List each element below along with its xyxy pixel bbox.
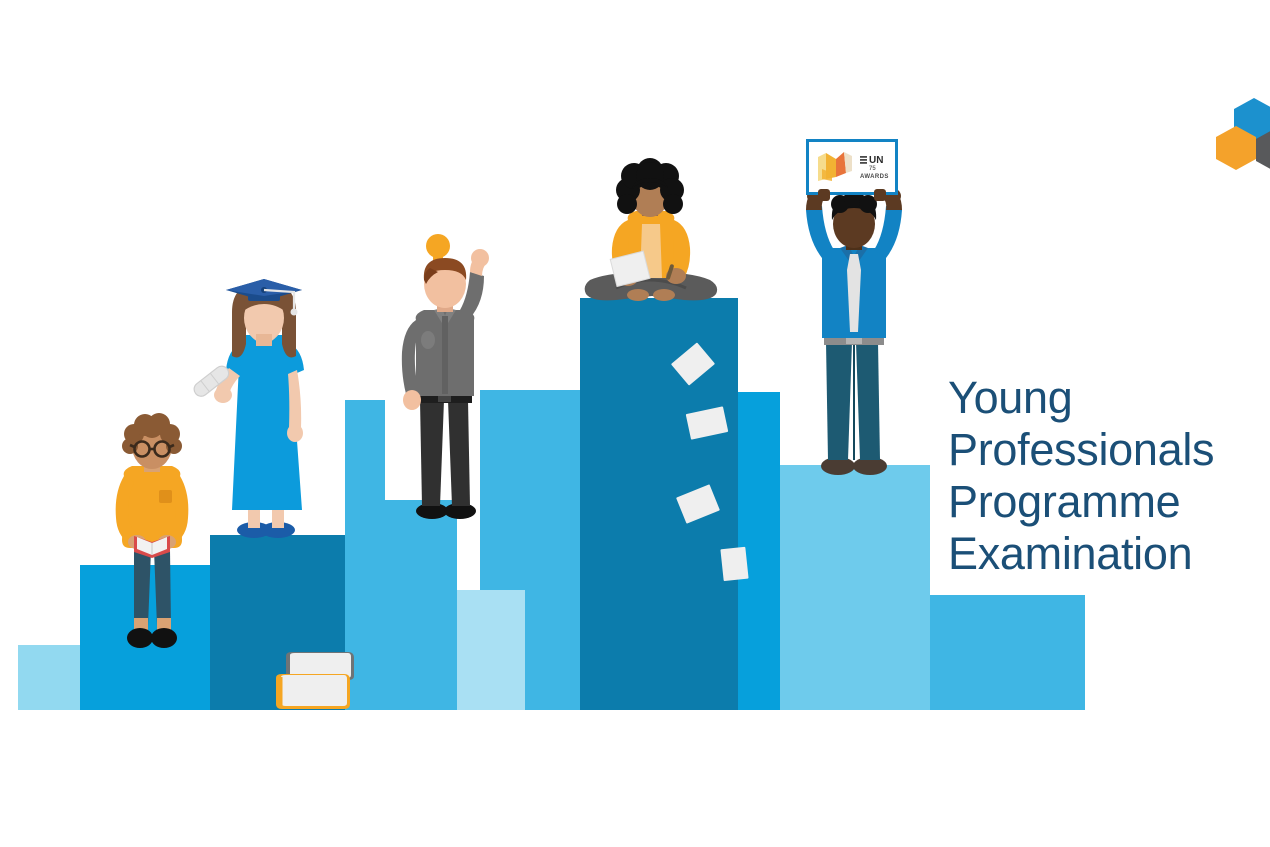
sign-artwork: UN 75 AWARDS [812,147,892,187]
svg-text:AWARDS: AWARDS [860,174,889,180]
stacked-books [268,648,368,714]
falling-papers [670,342,765,592]
figure-man-with-idea [392,228,498,520]
svg-text:75: 75 [869,166,876,172]
svg-text:UN: UN [869,155,883,166]
figure-seated-woman-with-papers [572,168,728,306]
sign-grip-right [874,189,886,201]
title-line-2: Professionals [948,424,1270,476]
chart-bar-1 [18,645,80,710]
figure-graduate-woman [182,278,330,540]
chart-bar-8 [457,590,525,710]
title-line-4: Examination [948,528,1270,580]
title-line-3: Programme [948,476,1270,528]
banner-canvas: UN 75 AWARDS [0,0,1270,847]
page-title: Young Professionals Programme Examinatio… [948,372,1270,580]
chart-bar-11 [780,465,930,710]
figure-man-holding-sign [794,192,916,478]
chart-bar-5 [385,500,457,710]
un-awards-sign: UN 75 AWARDS [806,139,898,195]
chart-bar-12 [930,595,1085,710]
title-line-1: Young [948,372,1270,424]
hexagon-cluster-logo [1218,96,1270,174]
sign-grip-left [818,189,830,201]
